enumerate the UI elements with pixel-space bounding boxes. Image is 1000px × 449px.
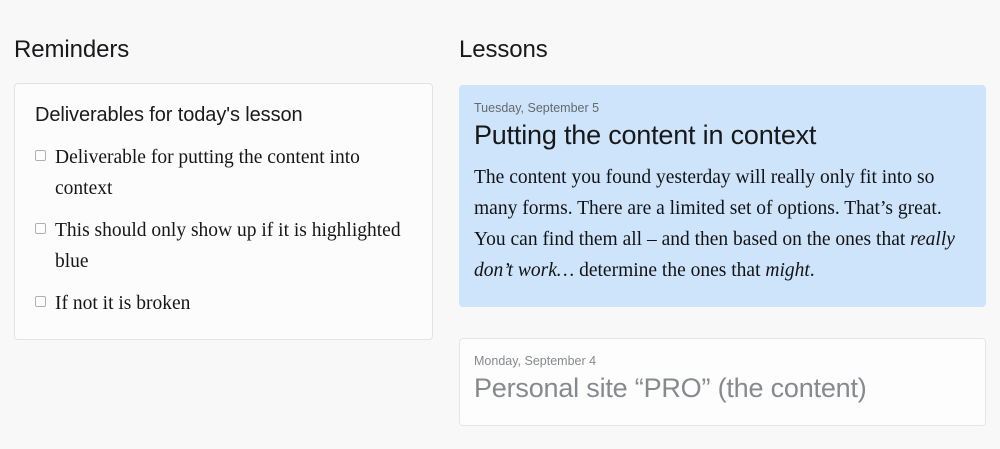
todo-item[interactable]: If not it is broken <box>35 288 412 319</box>
lesson-card[interactable]: Monday, September 4Personal site “PRO” (… <box>459 338 986 426</box>
reminders-todo-list: Deliverable for putting the content into… <box>35 142 412 319</box>
lesson-card-highlighted[interactable]: Tuesday, September 5Putting the content … <box>459 85 986 307</box>
reminders-heading: Reminders <box>14 0 438 64</box>
todo-item[interactable]: Deliverable for putting the content into… <box>35 142 412 204</box>
lesson-date: Tuesday, September 5 <box>474 100 965 116</box>
lesson-body-text: . <box>810 260 815 281</box>
lesson-body-text: determine the ones that <box>574 260 765 281</box>
checkbox-unchecked-icon[interactable] <box>35 150 46 161</box>
lessons-heading: Lessons <box>459 0 986 64</box>
reminders-card-title: Deliverables for today's lesson <box>35 102 412 128</box>
checkbox-unchecked-icon[interactable] <box>35 223 46 234</box>
lesson-title: Putting the content in context <box>474 118 965 152</box>
todo-item-label: Deliverable for putting the content into… <box>55 142 412 204</box>
lesson-card-list: Tuesday, September 5Putting the content … <box>459 85 986 426</box>
todo-item[interactable]: This should only show up if it is highli… <box>35 215 412 277</box>
lessons-column: Lessons Tuesday, September 5Putting the … <box>459 0 986 426</box>
lesson-body-text: The content you found yesterday will rea… <box>474 167 942 250</box>
checkbox-unchecked-icon[interactable] <box>35 296 46 307</box>
lesson-body: The content you found yesterday will rea… <box>474 162 965 286</box>
todo-item-label: This should only show up if it is highli… <box>55 215 412 277</box>
lesson-date: Monday, September 4 <box>474 353 965 369</box>
reminders-card: Deliverables for today's lesson Delivera… <box>14 83 433 340</box>
lesson-body-emphasis: might <box>765 260 809 281</box>
todo-item-label: If not it is broken <box>55 288 412 319</box>
lesson-title: Personal site “PRO” (the content) <box>474 371 965 405</box>
dashboard-page: Reminders Deliverables for today's lesso… <box>0 0 1000 449</box>
reminders-column: Reminders Deliverables for today's lesso… <box>14 0 438 340</box>
